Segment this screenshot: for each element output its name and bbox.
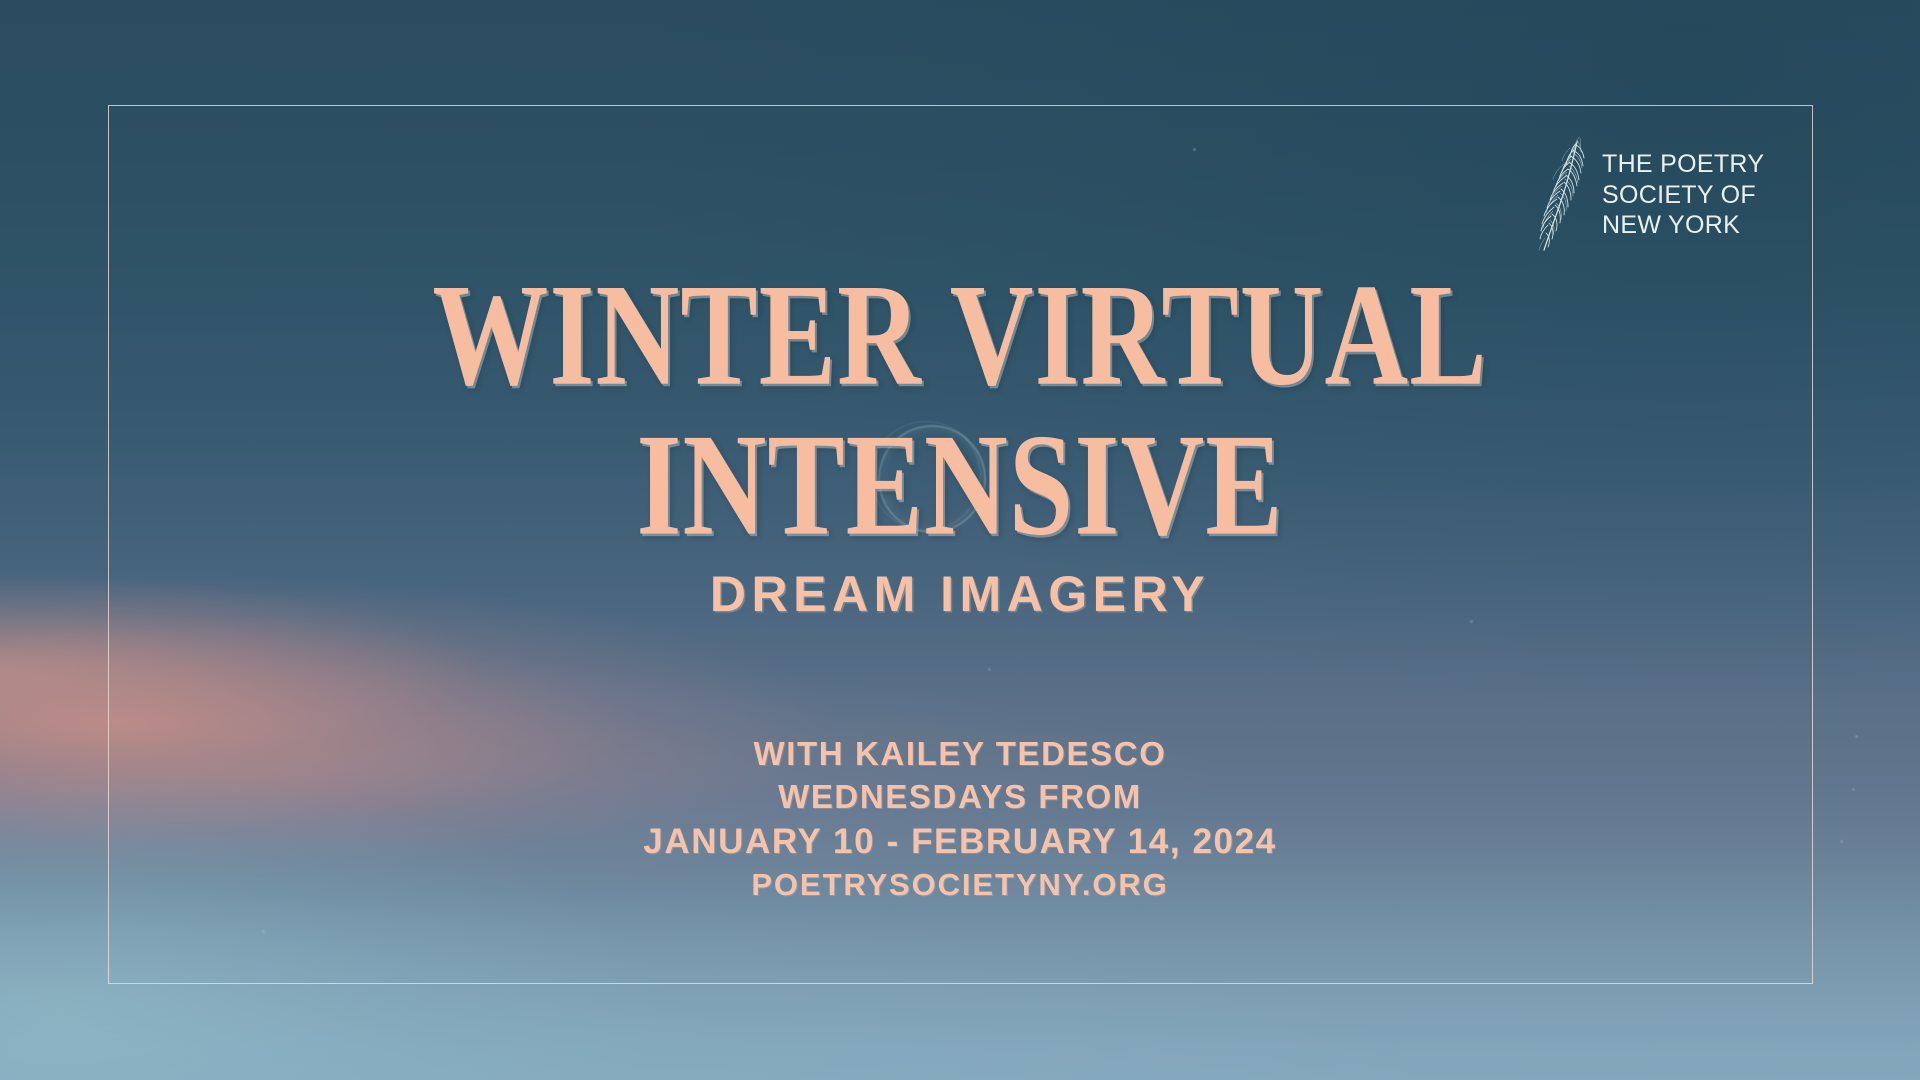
event-poster: THE POETRY SOCIETY OF NEW YORK WINTER VI…: [0, 0, 1920, 1080]
headline-line-1: WINTER VIRTUAL: [0, 264, 1920, 409]
poster-headline: WINTER VIRTUAL INTENSIVE: [0, 264, 1920, 558]
event-details-block: WITH KAILEY TEDESCO WEDNESDAYS FROM JANU…: [0, 733, 1920, 906]
poetry-society-logo: THE POETRY SOCIETY OF NEW YORK: [1536, 134, 1764, 256]
detail-dates: JANUARY 10 - FEBRUARY 14, 2024: [0, 819, 1920, 865]
feather-quill-icon: [1536, 134, 1592, 256]
detail-schedule: WEDNESDAYS FROM: [0, 776, 1920, 819]
headline-line-2: INTENSIVE: [0, 413, 1920, 558]
sky-speck: [262, 930, 265, 933]
sky-speck: [988, 668, 991, 671]
detail-instructor: WITH KAILEY TEDESCO: [0, 733, 1920, 776]
logo-line-3: NEW YORK: [1602, 210, 1764, 241]
poster-subtitle: DREAM IMAGERY: [0, 565, 1920, 623]
sky-speck: [1193, 148, 1196, 151]
detail-website[interactable]: POETRYSOCIETYNY.ORG: [0, 864, 1920, 906]
logo-line-2: SOCIETY OF: [1602, 180, 1764, 211]
logo-line-1: THE POETRY: [1602, 149, 1764, 180]
logo-wordmark: THE POETRY SOCIETY OF NEW YORK: [1602, 149, 1764, 241]
